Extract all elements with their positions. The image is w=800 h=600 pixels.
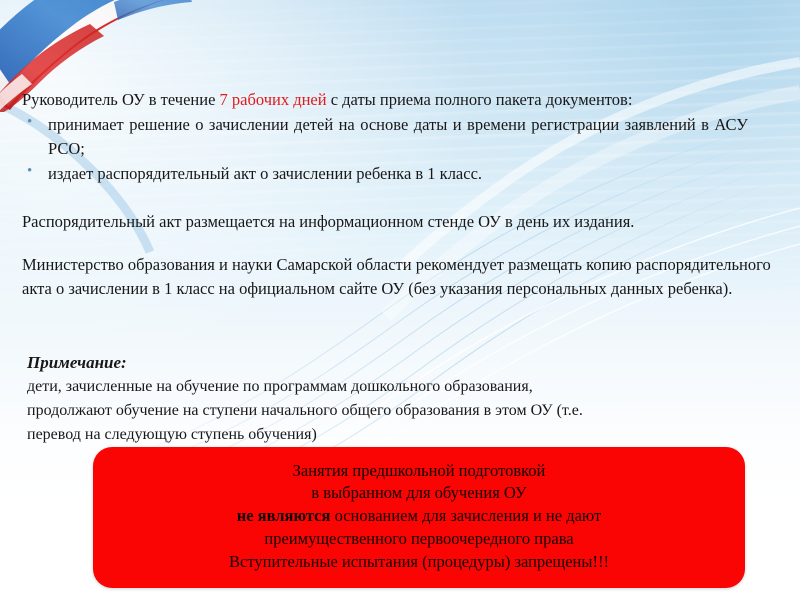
note-line: продолжают обучение на ступени начальног… — [27, 399, 747, 423]
lead-after: с даты приема полного пакета документов: — [327, 90, 633, 109]
note-block: Примечание: дети, зачисленные на обучени… — [27, 350, 747, 446]
paragraph-ministry-recommendation: Министерство образования и науки Самарск… — [22, 253, 774, 300]
spacer — [22, 188, 780, 210]
spacer — [22, 233, 780, 253]
note-line: дети, зачисленные на обучение по програм… — [27, 375, 747, 399]
slide-canvas: Руководитель ОУ в течение 7 рабочих дней… — [0, 0, 800, 600]
lead-sentence: Руководитель ОУ в течение 7 рабочих дней… — [22, 88, 780, 111]
list-item: принимает решение о зачислении детей на … — [22, 113, 748, 160]
lead-accent-days: 7 рабочих дней — [220, 90, 327, 109]
callout-line-5: Вступительные испытания (процедуры) запр… — [93, 551, 745, 574]
callout-emphasis: не являются — [237, 506, 331, 525]
director-actions-list: принимает решение о зачислении детей на … — [22, 113, 780, 185]
callout-line-1: Занятия предшкольной подготовкой — [93, 460, 745, 483]
warning-callout-text: Занятия предшкольной подготовкой в выбра… — [93, 460, 745, 576]
callout-line-3-rest: основанием для зачисления и не дают — [330, 506, 601, 525]
callout-line-2: в выбранном для обучения ОУ — [93, 482, 745, 505]
list-item: издает распорядительный акт о зачислении… — [22, 162, 748, 185]
callout-line-4: преимущественного первоочередного права — [93, 528, 745, 551]
callout-line-3: не являются основанием для зачисления и … — [93, 505, 745, 528]
paragraph-publication: Распорядительный акт размещается на инфо… — [22, 210, 774, 233]
note-line: перевод на следующую ступень обучения) — [27, 423, 747, 447]
main-text-block: Руководитель ОУ в течение 7 рабочих дней… — [22, 88, 780, 300]
note-heading: Примечание: — [27, 350, 747, 375]
lead-before: Руководитель ОУ в течение — [22, 90, 220, 109]
warning-callout-box: Занятия предшкольной подготовкой в выбра… — [93, 447, 745, 588]
